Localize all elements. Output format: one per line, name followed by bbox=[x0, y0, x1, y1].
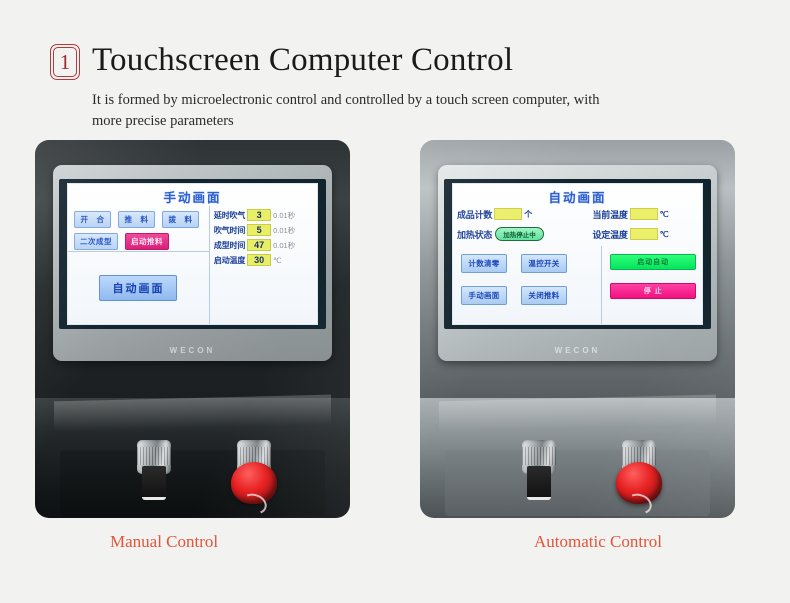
param-unit: 0.01秒 bbox=[273, 225, 295, 236]
hmi-bezel-manual: 手动画面 开 合 推 料 拨 料 bbox=[53, 165, 332, 361]
readout-unit: ℃ bbox=[660, 230, 669, 239]
param-row-start-temp[interactable]: 启动温度 30 ℃ bbox=[214, 254, 315, 266]
auto-stop-button[interactable]: 停 止 bbox=[610, 283, 696, 299]
page-title: Touchscreen Computer Control bbox=[92, 42, 513, 79]
manual-button-open-close[interactable]: 开 合 bbox=[74, 211, 111, 228]
hmi-bezel-auto: 自动画面 成品计数 个 bbox=[438, 165, 717, 361]
auto-action-column: 启动自动 停 止 bbox=[602, 246, 702, 324]
param-value-input[interactable]: 47 bbox=[247, 239, 271, 251]
param-label: 成型时间 bbox=[214, 240, 245, 251]
automatic-control-photo: 自动画面 成品计数 个 bbox=[420, 140, 735, 518]
readout-value-field bbox=[630, 208, 658, 220]
auto-readout-area: 成品计数 个 当前温度 ℃ bbox=[453, 204, 702, 244]
machine-lower-body bbox=[420, 398, 735, 518]
page-root: 1 Touchscreen Computer Control It is for… bbox=[0, 0, 790, 603]
auto-button-row-1: 计数清零 温控开关 bbox=[461, 254, 595, 273]
machine-housing-auto: 自动画面 成品计数 个 bbox=[420, 140, 735, 518]
manual-button-push-material[interactable]: 推 料 bbox=[118, 211, 155, 228]
readout-set-temp: 设定温度 ℃ bbox=[588, 224, 702, 244]
manual-parameter-panel: 延时吹气 3 0.01秒 吹气时间 5 0.01秒 bbox=[210, 206, 317, 324]
manual-button-row-1: 开 合 推 料 拨 料 bbox=[74, 211, 203, 228]
hmi-display-manual: 手动画面 开 合 推 料 拨 料 bbox=[59, 179, 326, 329]
auto-button-reset-counter[interactable]: 计数清零 bbox=[461, 254, 507, 273]
machine-apron bbox=[445, 450, 710, 516]
auto-button-row-2: 手动画面 关闭推料 bbox=[461, 286, 595, 305]
section-number-text: 1 bbox=[53, 47, 77, 77]
machine-lower-body bbox=[35, 398, 350, 518]
hmi-display-auto: 自动画面 成品计数 个 bbox=[444, 179, 711, 329]
param-unit: 0.01秒 bbox=[273, 240, 295, 251]
hmi-brand-logo: WECON bbox=[53, 346, 332, 355]
manual-nav-area: 自动画面 bbox=[68, 252, 209, 324]
readout-unit: ℃ bbox=[660, 210, 669, 219]
caption-automatic-control: Automatic Control bbox=[534, 532, 662, 552]
readout-current-temp: 当前温度 ℃ bbox=[588, 204, 702, 224]
param-unit: 0.01秒 bbox=[273, 210, 295, 221]
manual-screen-title: 手动画面 bbox=[68, 184, 317, 208]
param-unit: ℃ bbox=[273, 256, 281, 265]
param-row-forming-time[interactable]: 成型时间 47 0.01秒 bbox=[214, 239, 315, 251]
selector-ridges bbox=[522, 447, 556, 465]
hmi-brand-logo: WECON bbox=[438, 346, 717, 355]
readout-product-count: 成品计数 个 bbox=[453, 204, 582, 224]
param-label: 启动温度 bbox=[214, 255, 245, 266]
emergency-stop-button[interactable] bbox=[231, 440, 277, 504]
caption-manual-control: Manual Control bbox=[110, 532, 218, 552]
selector-ridges bbox=[137, 447, 171, 465]
readout-value-field[interactable] bbox=[494, 208, 522, 220]
manual-button-start-feed[interactable]: 启动推料 bbox=[125, 233, 169, 250]
readout-label: 成品计数 bbox=[457, 208, 492, 221]
manual-button-grid: 开 合 推 料 拨 料 二次成型 启动推料 bbox=[68, 206, 209, 252]
manual-button-row-2: 二次成型 启动推料 bbox=[74, 233, 203, 250]
auto-button-grid: 计数清零 温控开关 手动画面 关闭推料 bbox=[453, 246, 602, 324]
header: 1 Touchscreen Computer Control It is for… bbox=[0, 0, 790, 132]
manual-screen[interactable]: 手动画面 开 合 推 料 拨 料 bbox=[67, 183, 318, 325]
readout-unit: 个 bbox=[524, 209, 532, 220]
param-label: 延时吹气 bbox=[214, 210, 245, 221]
estop-dome[interactable] bbox=[616, 462, 662, 504]
selector-switch[interactable] bbox=[131, 440, 177, 504]
param-row-delay-blow[interactable]: 延时吹气 3 0.01秒 bbox=[214, 209, 315, 221]
auto-nav-to-manual-screen[interactable]: 手动画面 bbox=[461, 286, 507, 305]
selector-switch[interactable] bbox=[516, 440, 562, 504]
readout-label: 设定温度 bbox=[592, 228, 627, 241]
estop-dome[interactable] bbox=[231, 462, 277, 504]
selector-lever[interactable] bbox=[527, 466, 551, 500]
manual-nav-to-auto-screen[interactable]: 自动画面 bbox=[99, 275, 177, 301]
auto-start-button[interactable]: 启动自动 bbox=[610, 254, 696, 270]
manual-button-second-forming[interactable]: 二次成型 bbox=[74, 233, 118, 250]
status-badge: 加热停止中 bbox=[495, 227, 544, 241]
machine-housing-manual: 手动画面 开 合 推 料 拨 料 bbox=[35, 140, 350, 518]
manual-control-photo: 手动画面 开 合 推 料 拨 料 bbox=[35, 140, 350, 518]
manual-button-pull-material[interactable]: 拨 料 bbox=[162, 211, 199, 228]
auto-button-temp-switch[interactable]: 温控开关 bbox=[521, 254, 567, 273]
param-value-input[interactable]: 5 bbox=[247, 224, 271, 236]
auto-button-stop-feed[interactable]: 关闭推料 bbox=[521, 286, 567, 305]
status-label: 加热状态 bbox=[457, 228, 492, 241]
param-value-input[interactable]: 3 bbox=[247, 209, 271, 221]
readout-label: 当前温度 bbox=[592, 208, 627, 221]
manual-left-column: 开 合 推 料 拨 料 二次成型 启动推料 bbox=[68, 206, 210, 324]
emergency-stop-button[interactable] bbox=[616, 440, 662, 504]
page-subtitle: It is formed by microelectronic control … bbox=[92, 90, 612, 132]
param-value-input[interactable]: 30 bbox=[247, 254, 271, 266]
readout-value-field[interactable] bbox=[630, 228, 658, 240]
selector-lever[interactable] bbox=[142, 466, 166, 500]
param-row-blow-time[interactable]: 吹气时间 5 0.01秒 bbox=[214, 224, 315, 236]
machine-apron bbox=[60, 450, 325, 516]
auto-screen[interactable]: 自动画面 成品计数 个 bbox=[452, 183, 703, 325]
param-label: 吹气时间 bbox=[214, 225, 245, 236]
status-heating-row: 加热状态 加热停止中 bbox=[453, 224, 582, 244]
section-number-badge: 1 bbox=[50, 44, 80, 80]
